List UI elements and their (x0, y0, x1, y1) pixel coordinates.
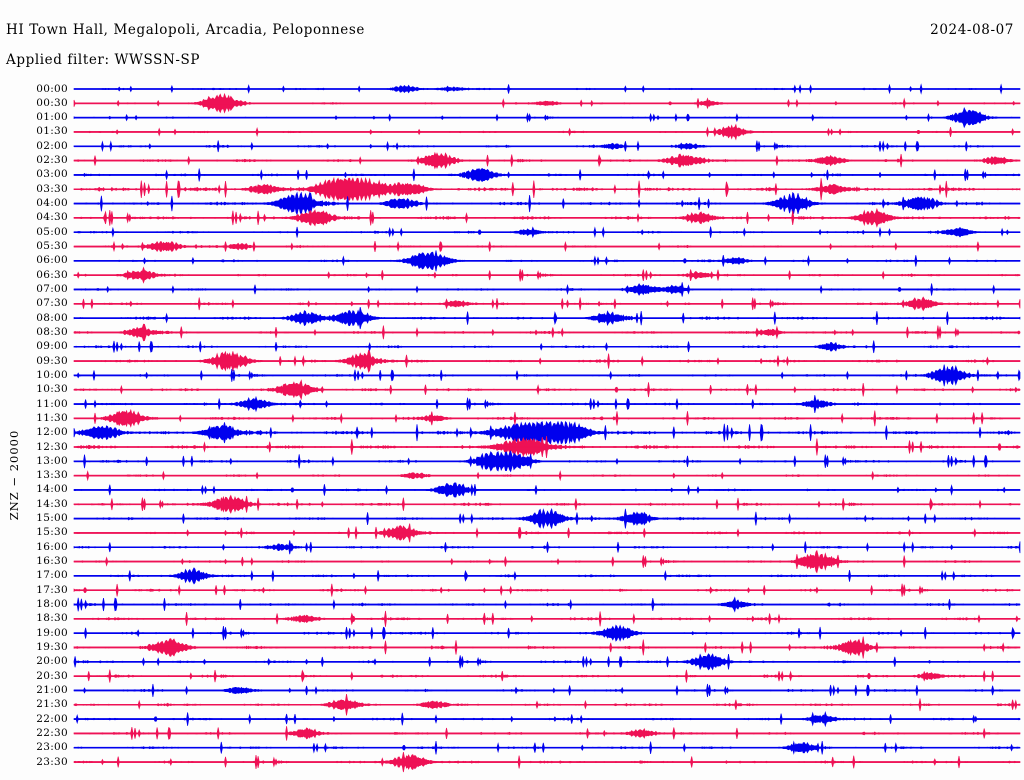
trace-canvas (0, 78, 1024, 780)
applied-filter-label: Applied filter: WWSSN-SP (6, 52, 200, 68)
header: HI Town Hall, Megalopoli, Arcadia, Pelop… (0, 0, 1024, 78)
trace-svg (0, 78, 1024, 780)
seismogram-plot: ZNZ − 20000 00:0000:3001:0001:3002:0002:… (0, 78, 1024, 780)
page-title: HI Town Hall, Megalopoli, Arcadia, Pelop… (6, 22, 365, 38)
record-date: 2024-08-07 (930, 22, 1014, 38)
